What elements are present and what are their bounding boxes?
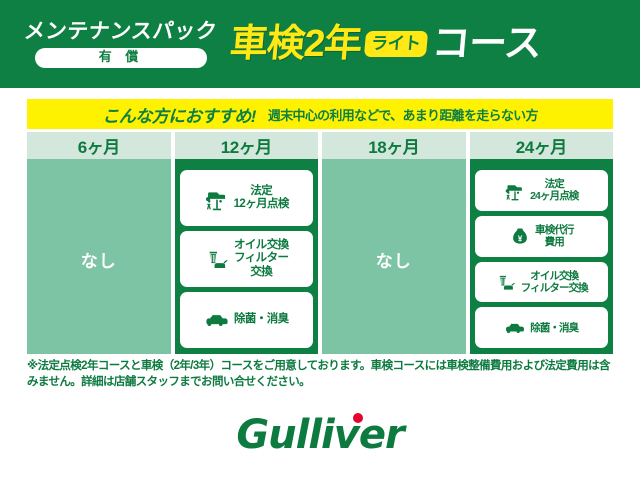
money-bag-yen-icon: ¥ (509, 225, 531, 247)
service-column: 12ヶ月法定 12ヶ月点検オイル交換 フィルター 交換除菌・消臭 (175, 132, 319, 354)
service-item: 法定 12ヶ月点検 (180, 170, 314, 226)
column-body: 法定 24ヶ月点検¥車検代行 費用オイル交換 フィルター交換除菌・消臭 (470, 164, 614, 354)
oil-can-filter-icon (495, 271, 517, 293)
column-header-6ヶ月: 6ヶ月 (27, 132, 171, 159)
svg-text:¥: ¥ (518, 235, 523, 244)
service-item: オイル交換 フィルター 交換 (180, 231, 314, 287)
gulliver-logo-text: Gulliver (236, 412, 403, 458)
service-item: 法定 24ヶ月点検 (475, 170, 609, 211)
column-body: なし (27, 164, 171, 354)
course-title-block: 車検2年 ライト コース (230, 25, 640, 63)
recommend-description: 週末中心の利用などで、あまり距離を走らない方 (268, 105, 538, 124)
recommend-banner: こんな方におすすめ! 週末中心の利用などで、あまり距離を走らない方 (27, 99, 613, 129)
brand-logo-area: Gulliver (0, 412, 640, 458)
service-column: 18ヶ月なし (322, 132, 466, 354)
maintenance-pack-block: メンテナンスパック 有 償 (0, 20, 228, 67)
service-item-label: 法定 24ヶ月点検 (530, 178, 578, 202)
service-item-label: オイル交換 フィルター交換 (521, 270, 588, 294)
service-item: オイル交換 フィルター交換 (475, 262, 609, 303)
paid-badge: 有 償 (35, 48, 207, 67)
lite-badge: ライト (364, 31, 428, 57)
service-table: 6ヶ月なし12ヶ月法定 12ヶ月点検オイル交換 フィルター 交換除菌・消臭18ヶ… (27, 132, 613, 354)
content-area: こんな方におすすめ! 週末中心の利用などで、あまり距離を走らない方 6ヶ月なし1… (27, 99, 613, 390)
maintenance-pack-title: メンテナンスパック (23, 20, 219, 43)
promo-page: メンテナンスパック 有 償 車検2年 ライト コース こんな方におすすめ! 週末… (0, 0, 640, 480)
service-item-label: 除菌・消臭 (530, 322, 578, 334)
course-suffix-title: コース (430, 25, 542, 63)
car-sanitize-icon (504, 317, 526, 339)
service-item-label: オイル交換 フィルター 交換 (234, 239, 289, 279)
no-service-label: なし (81, 247, 117, 272)
car-lift-inspection-icon (504, 179, 526, 201)
service-item: ¥車検代行 費用 (475, 216, 609, 257)
service-item: 除菌・消臭 (180, 292, 314, 348)
service-item-label: 法定 12ヶ月点検 (234, 185, 289, 211)
service-item: 除菌・消臭 (475, 307, 609, 348)
gulliver-logo: Gulliver (236, 412, 403, 458)
column-header-12ヶ月: 12ヶ月 (175, 132, 319, 159)
service-column: 24ヶ月法定 24ヶ月点検¥車検代行 費用オイル交換 フィルター交換除菌・消臭 (470, 132, 614, 354)
column-header-18ヶ月: 18ヶ月 (322, 132, 466, 159)
no-service-label: なし (376, 247, 412, 272)
car-sanitize-icon (204, 307, 230, 333)
recommend-heading: こんな方におすすめ! (102, 102, 256, 127)
column-body: 法定 12ヶ月点検オイル交換 フィルター 交換除菌・消臭 (175, 164, 319, 354)
oil-can-filter-icon (204, 246, 230, 272)
header-banner: メンテナンスパック 有 償 車検2年 ライト コース (0, 0, 640, 88)
service-item-label: 車検代行 費用 (535, 224, 573, 248)
course-main-title: 車検2年 (228, 25, 362, 63)
column-header-24ヶ月: 24ヶ月 (470, 132, 614, 159)
service-item-label: 除菌・消臭 (234, 313, 289, 326)
column-body: なし (322, 164, 466, 354)
car-lift-inspection-icon (204, 185, 230, 211)
service-column: 6ヶ月なし (27, 132, 171, 354)
footnote-text: ※法定点検2年コースと車検（2年/3年）コースをご用意しております。車検コースに… (27, 359, 613, 390)
